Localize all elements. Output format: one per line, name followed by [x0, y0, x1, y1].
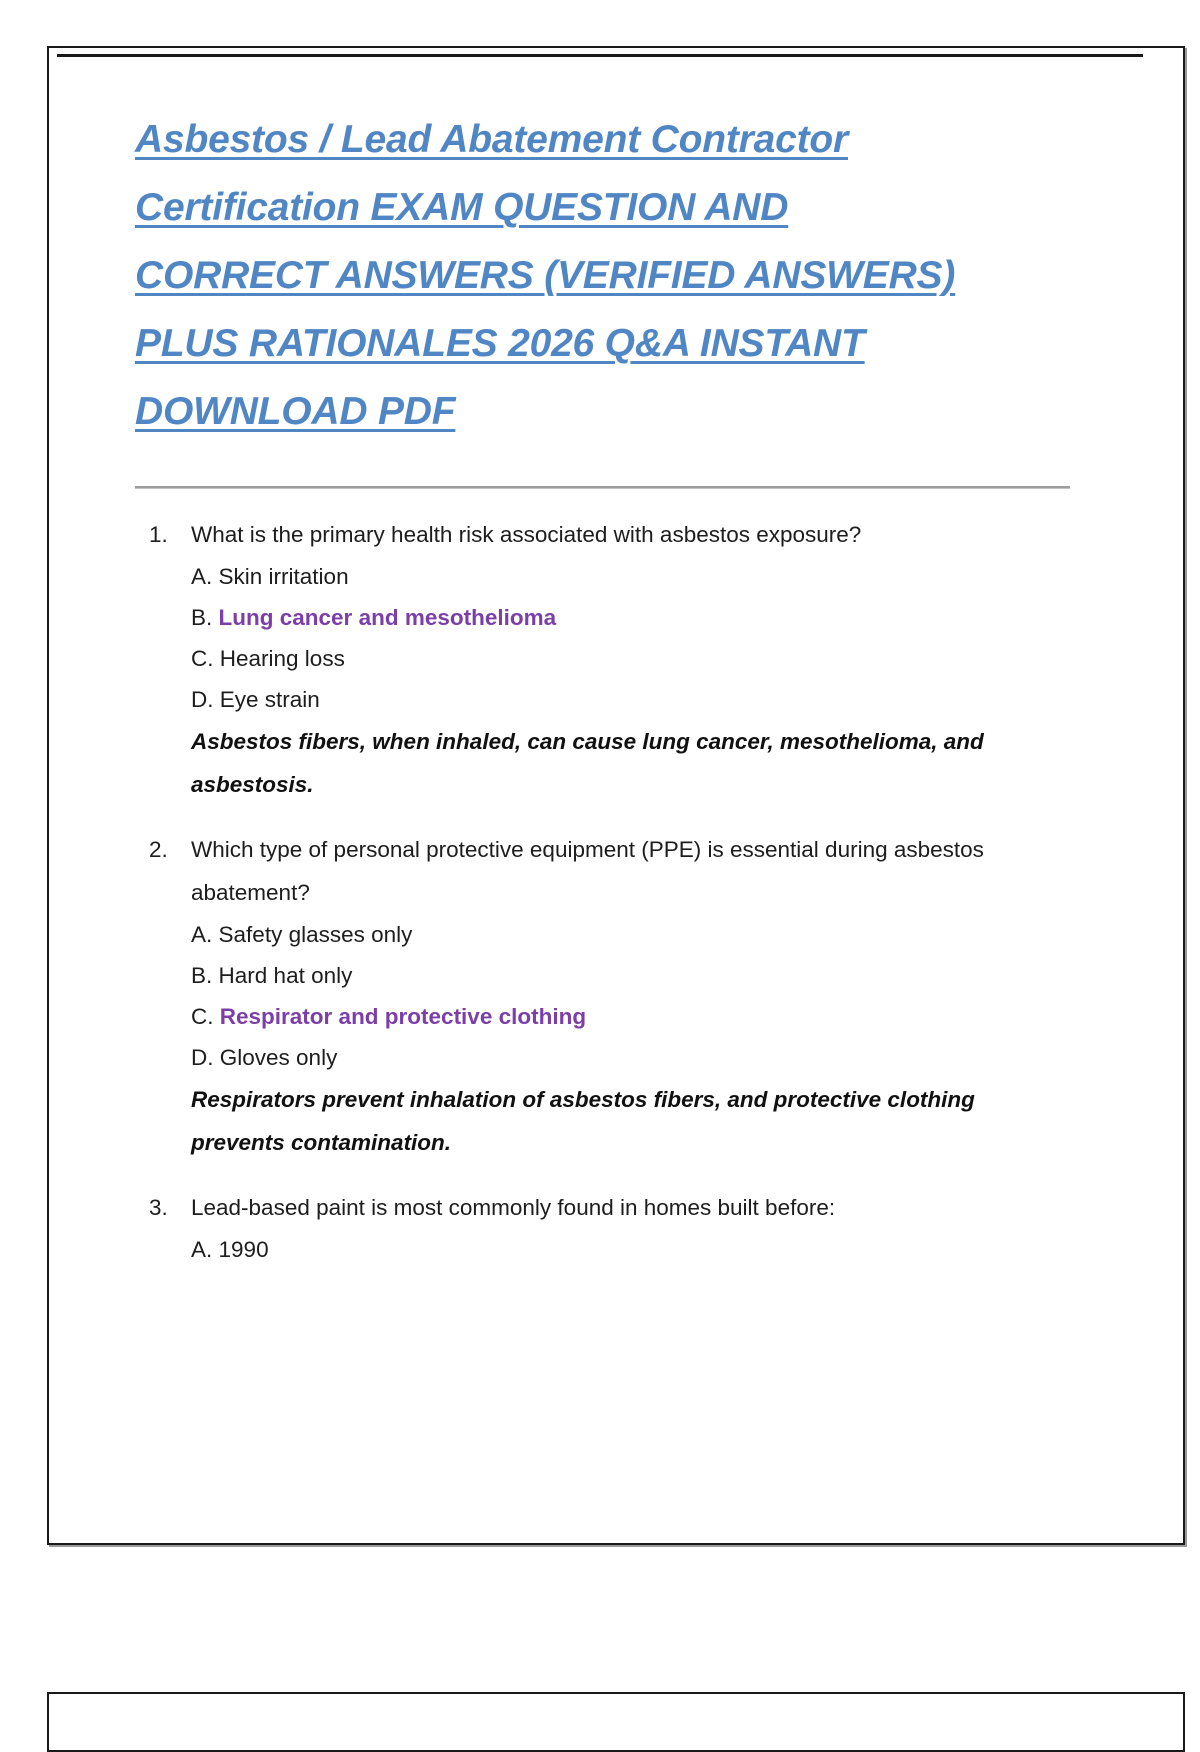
title-line-5: DOWNLOAD PDF [135, 390, 455, 433]
document-page-2 [47, 1692, 1185, 1752]
question-text: What is the primary health risk associat… [191, 513, 991, 556]
question-item: 1.What is the primary health risk associ… [135, 513, 1113, 806]
answer-option-text: 1990 [219, 1237, 269, 1262]
title-line-4: PLUS RATIONALES 2026 Q&A INSTANT [135, 322, 865, 365]
answer-option[interactable]: B. Lung cancer and mesothelioma [191, 597, 1113, 638]
answer-option-letter: D. [191, 687, 214, 712]
question-number: 2. [149, 828, 168, 871]
answer-option[interactable]: B. Hard hat only [191, 955, 1113, 996]
page-content: Asbestos / Lead Abatement Contractor Cer… [49, 48, 1183, 1543]
answer-option[interactable]: A. 1990 [191, 1229, 1113, 1270]
answer-option-letter: B. [191, 963, 212, 988]
document-page-1: Asbestos / Lead Abatement Contractor Cer… [47, 46, 1185, 1545]
answer-option-text: Skin irritation [219, 564, 349, 589]
question-text: Lead-based paint is most commonly found … [191, 1186, 991, 1229]
answer-option-letter: C. [191, 1004, 214, 1029]
answer-option-text-correct: Respirator and protective clothing [220, 1004, 586, 1029]
question-list: 1.What is the primary health risk associ… [135, 513, 1113, 1270]
answer-option[interactable]: C. Respirator and protective clothing [191, 996, 1113, 1037]
answer-option[interactable]: D. Eye strain [191, 679, 1113, 720]
answer-option-letter: A. [191, 922, 212, 947]
title-line-1: Asbestos / Lead Abatement Contractor [135, 118, 848, 161]
question-number: 1. [149, 513, 168, 556]
answer-option-text: Gloves only [220, 1045, 338, 1070]
answer-option[interactable]: A. Safety glasses only [191, 914, 1113, 955]
answer-option-text-correct: Lung cancer and mesothelioma [219, 605, 557, 630]
answer-option-text: Safety glasses only [219, 922, 413, 947]
page-title: Asbestos / Lead Abatement Contractor Cer… [135, 106, 1015, 446]
answer-option-letter: A. [191, 564, 212, 589]
answer-option[interactable]: A. Skin irritation [191, 556, 1113, 597]
answer-rationale: Respirators prevent inhalation of asbest… [191, 1078, 991, 1164]
question-item: 2.Which type of personal protective equi… [135, 828, 1113, 1164]
answer-option-text: Hearing loss [220, 646, 345, 671]
title-separator-rule [135, 486, 1070, 489]
answer-option[interactable]: C. Hearing loss [191, 638, 1113, 679]
question-text: Which type of personal protective equipm… [191, 828, 991, 914]
answer-option-letter: B. [191, 605, 212, 630]
answer-option[interactable]: D. Gloves only [191, 1037, 1113, 1078]
question-number: 3. [149, 1186, 168, 1229]
answer-option-letter: D. [191, 1045, 214, 1070]
answer-option-letter: C. [191, 646, 214, 671]
title-line-2: Certification EXAM QUESTION AND [135, 186, 788, 229]
title-line-3: CORRECT ANSWERS (VERIFIED ANSWERS) [135, 254, 955, 297]
answer-option-letter: A. [191, 1237, 212, 1262]
document-viewer: { "document": { "title_lines": [ "Asbest… [0, 0, 1200, 1700]
answer-option-text: Eye strain [220, 687, 320, 712]
question-item: 3.Lead-based paint is most commonly foun… [135, 1186, 1113, 1270]
answer-option-text: Hard hat only [219, 963, 353, 988]
answer-rationale: Asbestos fibers, when inhaled, can cause… [191, 720, 991, 806]
